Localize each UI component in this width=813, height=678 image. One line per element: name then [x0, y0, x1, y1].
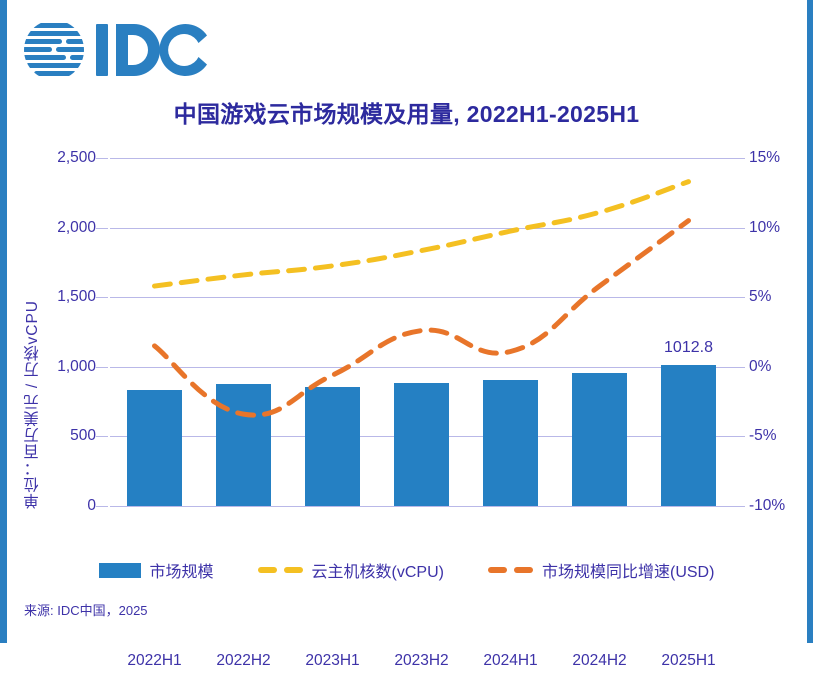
- y-axis-right-tick-label: 0%: [749, 358, 813, 376]
- y-axis-left-tick-label: 1,500: [26, 288, 96, 306]
- tick-mark-right: [733, 297, 745, 298]
- tick-mark-left: [96, 297, 108, 298]
- dashed-line-series: [155, 182, 689, 286]
- legend-dash-swatch: [258, 567, 303, 573]
- y-axis-left-tick-label: 1,000: [26, 358, 96, 376]
- tick-mark-left: [96, 506, 108, 507]
- x-axis-tick-label: 2023H1: [305, 652, 359, 670]
- tick-mark-right: [733, 158, 745, 159]
- bar-data-label: 1012.8: [664, 339, 713, 357]
- y-axis-left-tick-label: 0: [26, 497, 96, 515]
- y-axis-right-tick-label: 10%: [749, 219, 813, 237]
- x-axis-tick-label: 2024H2: [572, 652, 626, 670]
- tick-mark-left: [96, 436, 108, 437]
- plot-area: 1012.8: [110, 158, 733, 506]
- tick-mark-left: [96, 367, 108, 368]
- y-axis-left-tick-label: 2,000: [26, 219, 96, 237]
- chart-title: 中国游戏云市场规模及用量, 2022H1-2025H1: [0, 95, 813, 129]
- y-axis-left-ticks: 05001,0001,5002,0002,500: [18, 158, 96, 506]
- tick-mark-right: [733, 367, 745, 368]
- legend-label: 市场规模同比增速(USD): [542, 558, 714, 582]
- tick-mark-right: [733, 228, 745, 229]
- legend-item[interactable]: 云主机核数(vCPU): [258, 558, 444, 582]
- x-axis-tick-label: 2025H1: [661, 652, 715, 670]
- y-axis-right-tick-label: -10%: [749, 497, 813, 515]
- legend-bar-swatch: [99, 563, 141, 578]
- y-axis-left-tick-label: 2,500: [26, 149, 96, 167]
- x-axis-tick-label: 2022H2: [216, 652, 270, 670]
- chart-plot-wrapper: 单位：百万美元 / 万核vCPU 05001,0001,5002,0002,50…: [0, 140, 813, 520]
- y-axis-right-tick-label: 5%: [749, 288, 813, 306]
- x-axis-tick-label: 2024H1: [483, 652, 537, 670]
- source-note: 来源: IDC中国，2025: [24, 600, 148, 619]
- legend-label: 市场规模: [150, 558, 214, 582]
- y-axis-right-tick-label: 15%: [749, 149, 813, 167]
- tick-mark-left: [96, 228, 108, 229]
- y-axis-right-tick-label: -5%: [749, 427, 813, 445]
- x-axis-labels: 2022H12022H22023H12023H22024H12024H22025…: [110, 652, 733, 678]
- tick-mark-right: [733, 436, 745, 437]
- legend-item[interactable]: 市场规模同比增速(USD): [488, 558, 714, 582]
- tick-mark-left: [96, 158, 108, 159]
- legend-dash-swatch: [488, 567, 533, 573]
- legend-item[interactable]: 市场规模: [99, 558, 214, 582]
- gridline: [110, 506, 733, 507]
- tick-mark-right: [733, 506, 745, 507]
- chart-legend: 市场规模云主机核数(vCPU)市场规模同比增速(USD): [0, 555, 813, 585]
- x-axis-tick-label: 2022H1: [127, 652, 181, 670]
- x-axis-tick-label: 2023H2: [394, 652, 448, 670]
- y-axis-left-tick-label: 500: [26, 427, 96, 445]
- idc-logo: [22, 18, 212, 82]
- y-axis-right-ticks: -10%-5%0%5%10%15%: [749, 158, 813, 506]
- line-series: [110, 158, 733, 506]
- legend-label: 云主机核数(vCPU): [312, 558, 444, 582]
